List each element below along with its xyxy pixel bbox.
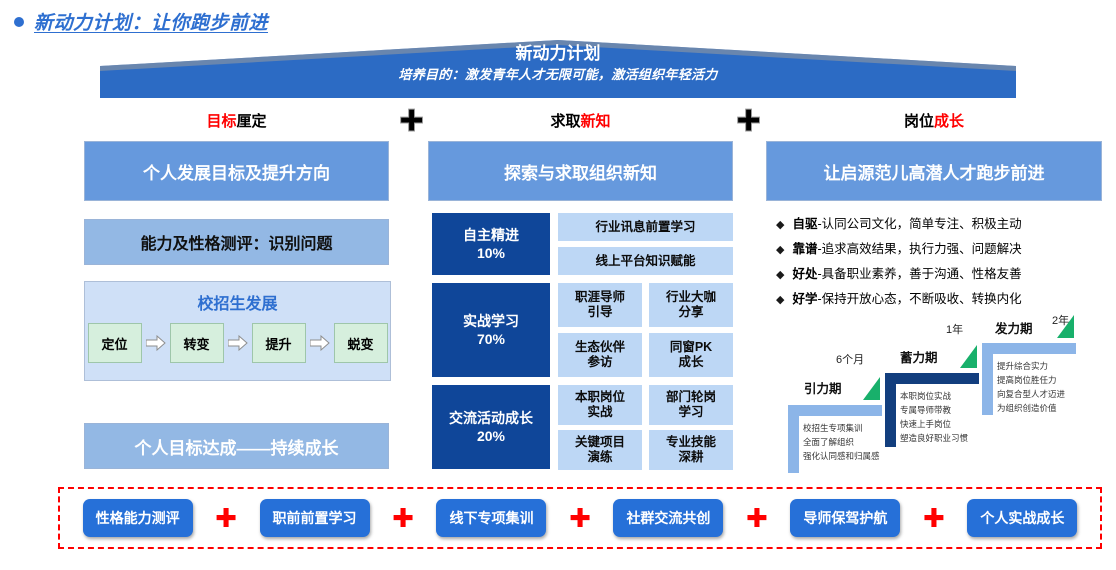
stair-time-1: 6个月 bbox=[836, 351, 864, 367]
chain-chip-3[interactable]: 线下专项集训 bbox=[436, 499, 546, 537]
stair-items-3: 提升综合实力 提高岗位胜任力 向复合型人才迈进 为组织创造价值 bbox=[997, 359, 1065, 415]
plus-separator-1-icon: ✚ bbox=[399, 107, 424, 137]
chain-chip-6[interactable]: 个人实战成长 bbox=[967, 499, 1077, 537]
page-title: 新动力计划：让你跑步前进 bbox=[14, 8, 268, 35]
diamond-bullet-icon: ◆ bbox=[776, 217, 784, 233]
chain-plus-3-icon: ✚ bbox=[569, 508, 591, 528]
stair-item-1-3: 强化认同感和归属感 bbox=[803, 449, 880, 463]
stage-arrow-2-icon bbox=[228, 335, 248, 351]
track-percent-2: 70% bbox=[477, 330, 505, 348]
track-name-1: 自主精进 bbox=[463, 226, 519, 244]
track-item-2-3: 生态伙伴 参访 bbox=[558, 333, 642, 377]
stair-item-1-2: 全面了解组织 bbox=[803, 435, 880, 449]
track-percent-3: 20% bbox=[477, 427, 505, 445]
chain-plus-4-icon: ✚ bbox=[746, 508, 768, 528]
stage-box-2: 转变 bbox=[170, 323, 224, 363]
track-item-3-1: 本职岗位 实战 bbox=[558, 385, 642, 425]
campus-development-panel: 校招生发展 定位 转变 提升 蜕变 bbox=[84, 281, 391, 381]
competency-keyword-3: 好处 bbox=[792, 267, 817, 281]
chain-chip-1[interactable]: 性格能力测评 bbox=[83, 499, 193, 537]
stair-item-2-1: 本职岗位实战 bbox=[900, 389, 968, 403]
stair-time-2: 1年 bbox=[946, 321, 963, 337]
bullet-dot-icon bbox=[14, 17, 24, 27]
track-box-exchange-growth: 交流活动成长 20% bbox=[432, 385, 550, 469]
column-header-knowledge-rest: 求取 bbox=[550, 113, 580, 130]
stair-item-3-2: 提高岗位胜任力 bbox=[997, 373, 1065, 387]
banner-title: 新动力计划 bbox=[516, 43, 601, 65]
column-header-growth-highlight: 成长 bbox=[934, 113, 964, 130]
competency-text-1: -认同公司文化，简单专注、积极主动 bbox=[817, 217, 1021, 231]
column-header-growth: 岗位成长 bbox=[766, 110, 1102, 131]
banner-subtitle: 培养目的：激发青年人才无限可能，激活组织年轻活力 bbox=[398, 65, 717, 85]
stair-item-2-3: 快速上手岗位 bbox=[900, 417, 968, 431]
campus-development-title: 校招生发展 bbox=[85, 290, 390, 314]
track-item-3-2: 部门轮岗 学习 bbox=[649, 385, 733, 425]
diamond-bullet-icon: ◆ bbox=[776, 267, 784, 283]
column-header-knowledge: 求取新知 bbox=[428, 110, 733, 131]
stage-arrow-1-icon bbox=[146, 335, 166, 351]
track-box-practical-learning: 实战学习 70% bbox=[432, 283, 550, 377]
track-name-3: 交流活动成长 bbox=[449, 409, 533, 427]
column-header-goal-highlight: 目标 bbox=[206, 113, 236, 130]
middle-column-header-box: 探索与求取组织新知 bbox=[428, 141, 733, 201]
column-header-goal-rest: 厘定 bbox=[237, 113, 267, 130]
program-chain-strip: 性格能力测评 ✚ 职前前置学习 ✚ 线下专项集训 ✚ 社群交流共创 ✚ 导师保驾… bbox=[58, 487, 1102, 549]
competency-text-2: -追求高效结果，执行力强、问题解决 bbox=[817, 242, 1021, 256]
track-item-3-4: 专业技能 深耕 bbox=[649, 430, 733, 470]
track-percent-1: 10% bbox=[477, 244, 505, 262]
stair-item-2-2: 专属导师带教 bbox=[900, 403, 968, 417]
program-banner: 新动力计划 培养目的：激发青年人才无限可能，激活组织年轻活力 bbox=[100, 40, 1016, 98]
stair-item-3-4: 为组织创造价值 bbox=[997, 401, 1065, 415]
page-title-text: 新动力计划：让你跑步前进 bbox=[34, 8, 268, 35]
competency-bullet-3: ◆ 好处-具备职业素养，善于沟通、性格友善 bbox=[776, 266, 1106, 283]
stage-box-3: 提升 bbox=[252, 323, 306, 363]
track-name-2: 实战学习 bbox=[463, 312, 519, 330]
growth-staircase: 引力期 6个月 校招生专项集训 全面了解组织 强化认同感和归属感 蓄力期 1年 … bbox=[780, 315, 1110, 475]
stair-items-1: 校招生专项集训 全面了解组织 强化认同感和归属感 bbox=[803, 421, 880, 463]
left-column-footer-box: 个人目标达成——持续成长 bbox=[84, 423, 389, 469]
track-item-2-2: 行业大咖 分享 bbox=[649, 283, 733, 327]
stair-label-3: 发力期 bbox=[995, 318, 1033, 337]
competency-bullet-4: ◆ 好学-保持开放心态，不断吸收、转换内化 bbox=[776, 291, 1106, 308]
chain-chip-5[interactable]: 导师保驾护航 bbox=[790, 499, 900, 537]
competency-keyword-4: 好学 bbox=[792, 292, 817, 306]
competency-bullet-list: ◆ 自驱-认同公司文化，简单专注、积极主动 ◆ 靠谱-追求高效结果，执行力强、问… bbox=[776, 216, 1106, 308]
competency-text-4: -保持开放心态，不断吸收、转换内化 bbox=[817, 292, 1021, 306]
stage-box-4: 蜕变 bbox=[334, 323, 388, 363]
stage-box-1: 定位 bbox=[88, 323, 142, 363]
stair-items-2: 本职岗位实战 专属导师带教 快速上手岗位 塑造良好职业习惯 bbox=[900, 389, 968, 445]
column-header-goal: 目标厘定 bbox=[84, 110, 389, 131]
right-column-header-box: 让启源范儿高潜人才跑步前进 bbox=[766, 141, 1102, 201]
chain-chip-2[interactable]: 职前前置学习 bbox=[260, 499, 370, 537]
stair-item-2-4: 塑造良好职业习惯 bbox=[900, 431, 968, 445]
stair-item-3-1: 提升综合实力 bbox=[997, 359, 1065, 373]
track-item-2-4: 同窗PK 成长 bbox=[649, 333, 733, 377]
track-item-1-1: 行业讯息前置学习 bbox=[558, 213, 733, 241]
stair-item-1-1: 校招生专项集训 bbox=[803, 421, 880, 435]
diamond-bullet-icon: ◆ bbox=[776, 242, 784, 258]
competency-bullet-1: ◆ 自驱-认同公司文化，简单专注、积极主动 bbox=[776, 216, 1106, 233]
assessment-box: 能力及性格测评：识别问题 bbox=[84, 219, 389, 265]
stage-arrow-3-icon bbox=[310, 335, 330, 351]
chain-plus-5-icon: ✚ bbox=[923, 508, 945, 528]
competency-keyword-1: 自驱 bbox=[792, 217, 817, 231]
left-column-header-box: 个人发展目标及提升方向 bbox=[84, 141, 389, 201]
chain-chip-4[interactable]: 社群交流共创 bbox=[613, 499, 723, 537]
diamond-bullet-icon: ◆ bbox=[776, 292, 784, 308]
column-header-knowledge-highlight: 新知 bbox=[581, 113, 611, 130]
stair-item-3-3: 向复合型人才迈进 bbox=[997, 387, 1065, 401]
stair-label-2: 蓄力期 bbox=[900, 347, 938, 366]
track-box-self-improvement: 自主精进 10% bbox=[432, 213, 550, 275]
plus-separator-2-icon: ✚ bbox=[736, 107, 761, 137]
chain-plus-2-icon: ✚ bbox=[392, 508, 414, 528]
track-item-3-3: 关键项目 演练 bbox=[558, 430, 642, 470]
competency-bullet-2: ◆ 靠谱-追求高效结果，执行力强、问题解决 bbox=[776, 241, 1106, 258]
track-item-2-1: 职涯导师 引导 bbox=[558, 283, 642, 327]
stair-time-3: 2年 bbox=[1052, 312, 1069, 328]
track-item-1-2: 线上平台知识赋能 bbox=[558, 247, 733, 275]
column-header-growth-rest: 岗位 bbox=[904, 113, 934, 130]
competency-text-3: -具备职业素养，善于沟通、性格友善 bbox=[817, 267, 1021, 281]
chain-plus-1-icon: ✚ bbox=[215, 508, 237, 528]
competency-keyword-2: 靠谱 bbox=[792, 242, 817, 256]
stair-label-1: 引力期 bbox=[804, 378, 842, 397]
